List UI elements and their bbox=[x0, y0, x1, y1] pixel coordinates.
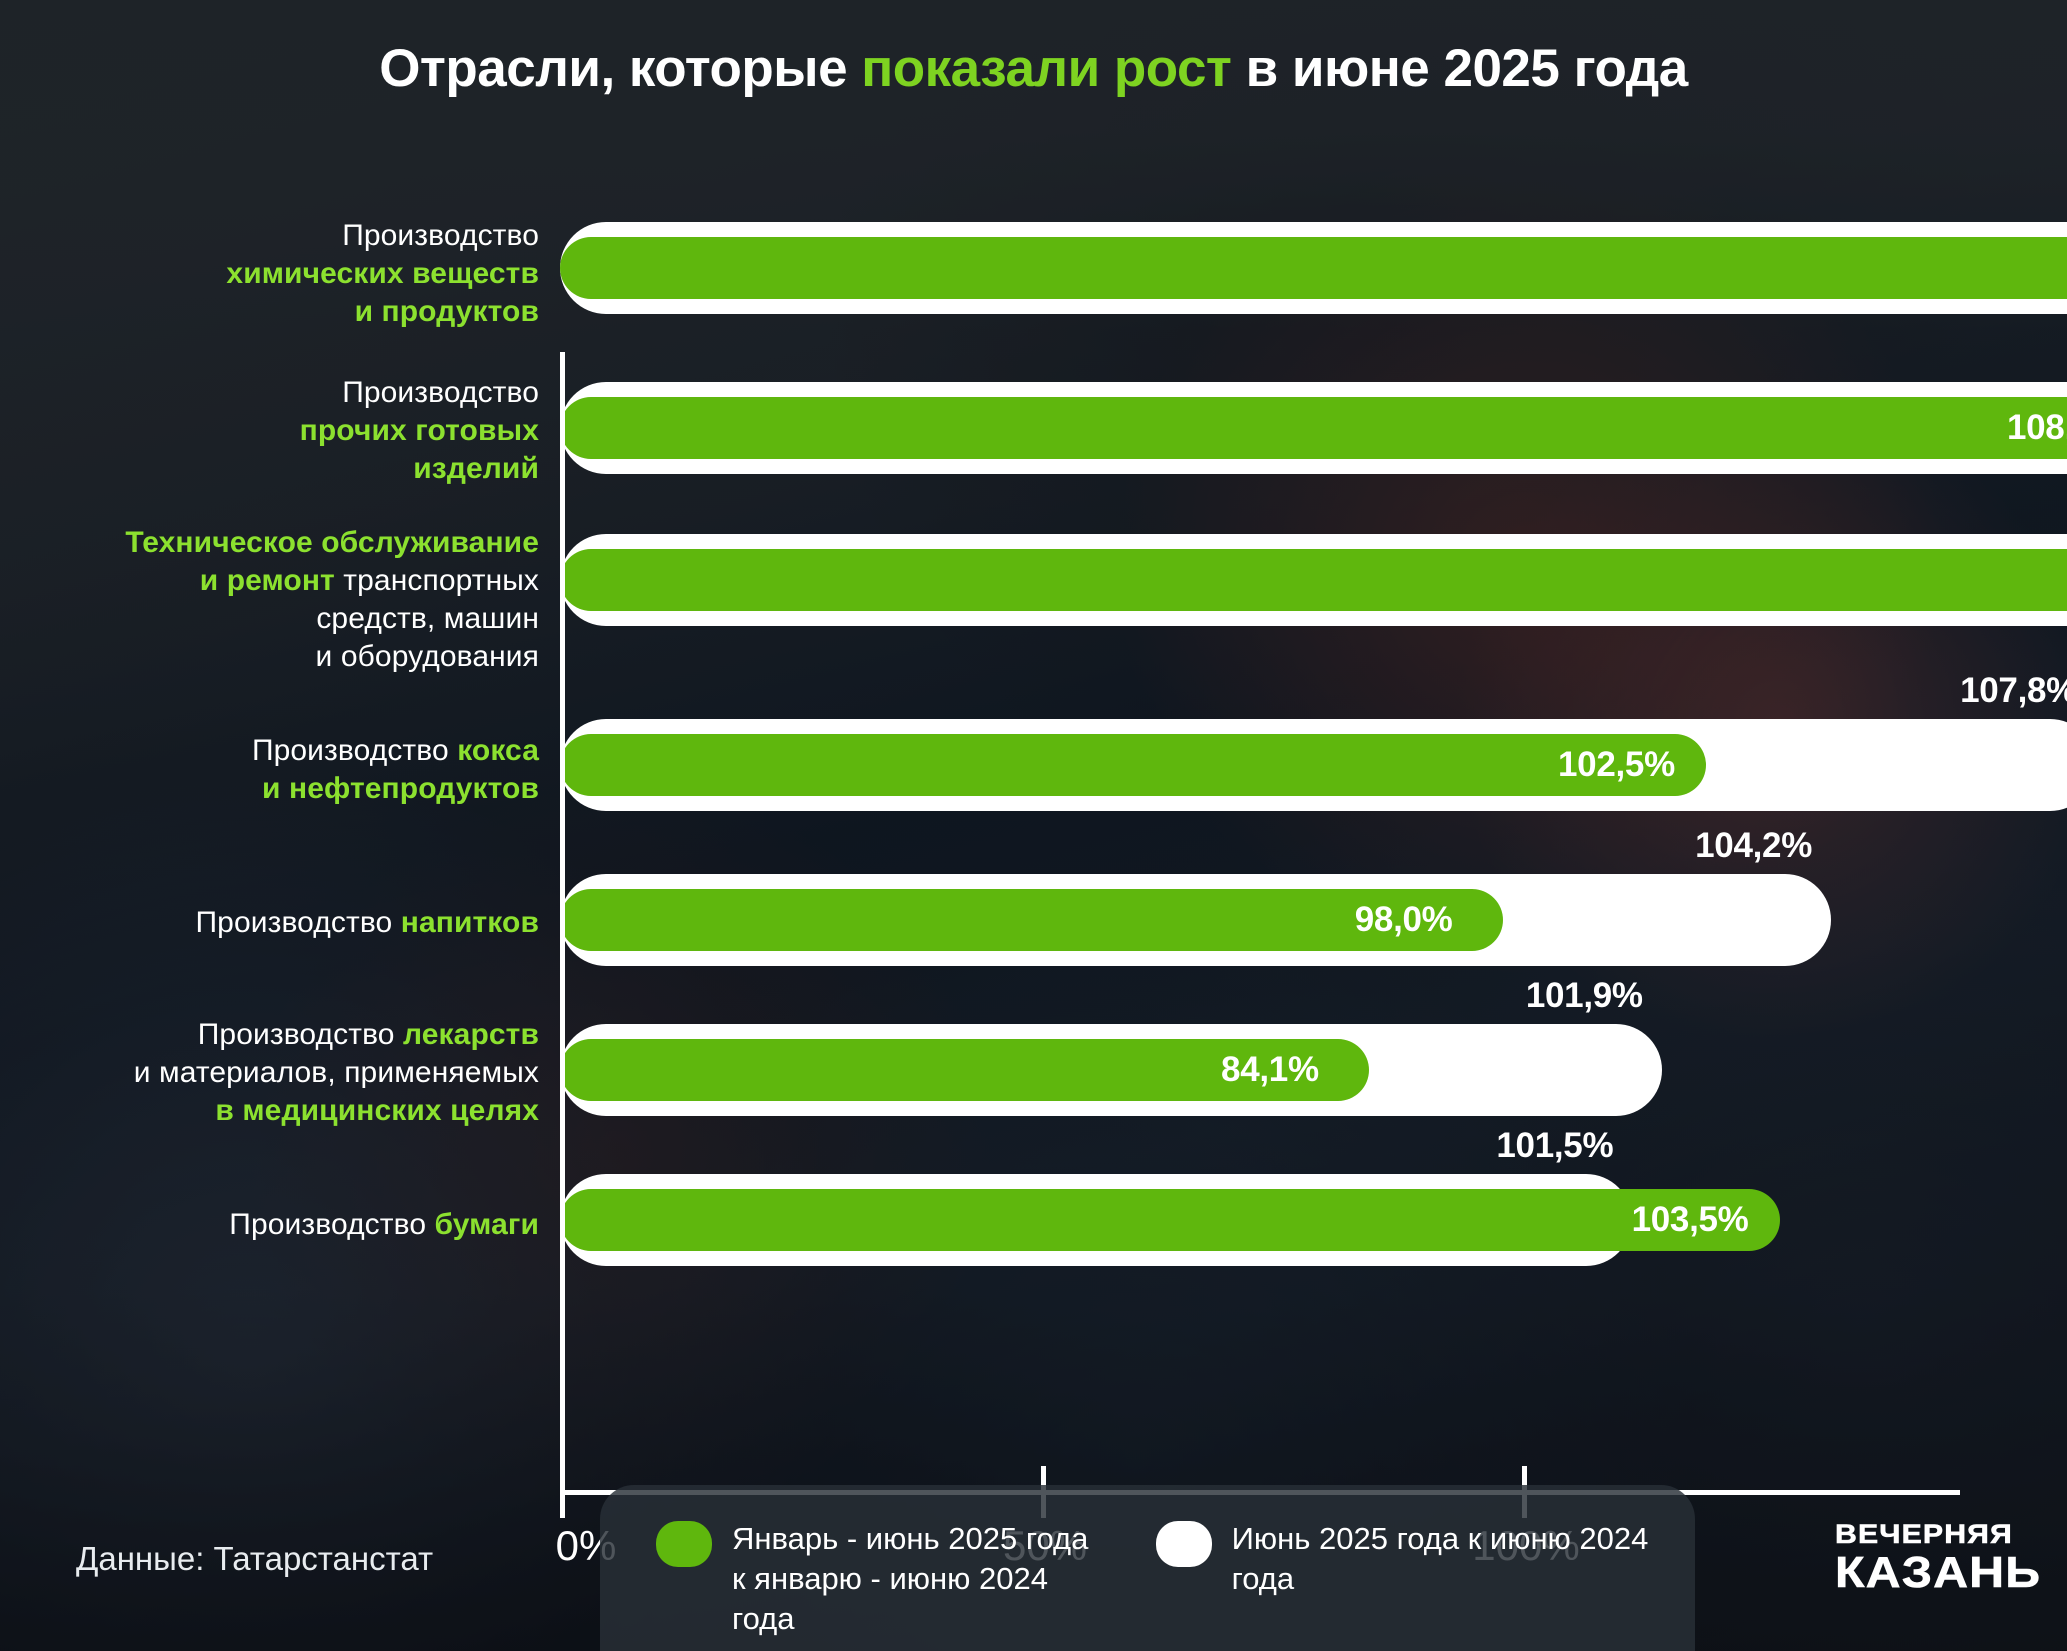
category-label: Производство бумаги bbox=[19, 1206, 539, 1244]
value-label-white: 104,2% bbox=[1695, 826, 1812, 866]
legend-swatch-green-icon bbox=[656, 1521, 712, 1567]
chart-row: Производство бумаги101,5%103,5% bbox=[0, 1130, 2067, 1280]
category-label: Производство лекарстви материалов, приме… bbox=[19, 1016, 539, 1130]
value-label-green: 108,6% bbox=[2007, 408, 2067, 448]
chart-row: Производствопрочих готовыхизделий115,0%1… bbox=[0, 338, 2067, 484]
logo-line-1: ВЕЧЕРНЯЯ bbox=[1835, 1521, 2013, 1548]
y-axis-line bbox=[560, 352, 565, 1492]
title-part-1: Отрасли, которые bbox=[379, 39, 861, 98]
category-label: Производство напитков bbox=[19, 904, 539, 942]
chart-row: Техническое обслуживаниеи ремонт транспо… bbox=[0, 490, 2067, 670]
legend-item-green: Январь - июнь 2025 года к январю - июню … bbox=[656, 1519, 1106, 1651]
title-part-2: в июне 2025 года bbox=[1231, 39, 1687, 98]
value-label-white: 101,5% bbox=[1496, 1126, 1613, 1166]
legend-label-green: Январь - июнь 2025 года к январю - июню … bbox=[732, 1519, 1106, 1639]
chart-row: Производствохимических веществи продукто… bbox=[0, 178, 2067, 330]
legend-label-white: Июнь 2025 года к июню 2024 года bbox=[1232, 1519, 1695, 1599]
publisher-logo: ВЕЧЕРНЯЯ КАЗАНЬ bbox=[1835, 1512, 2031, 1604]
logo-line-2: КАЗАНЬ bbox=[1835, 1551, 2041, 1595]
category-label: Техническое обслуживаниеи ремонт транспо… bbox=[19, 524, 539, 676]
category-label: Производство коксаи нефтепродуктов bbox=[19, 732, 539, 808]
bar-green bbox=[560, 237, 2067, 299]
bar-green bbox=[560, 549, 2067, 611]
chart-row: Производство напитков104,2%98,0% bbox=[0, 830, 2067, 976]
value-label-green: 103,5% bbox=[1632, 1200, 1749, 1240]
value-label-green: 98,0% bbox=[1355, 900, 1453, 940]
data-source-note: Данные: Татарстанстат bbox=[76, 1540, 433, 1578]
bar-chart: Производствохимических веществи продукто… bbox=[0, 170, 2067, 1350]
value-label-green: 84,1% bbox=[1221, 1050, 1319, 1090]
legend-swatch-white-icon bbox=[1156, 1521, 1212, 1567]
bar-green bbox=[560, 734, 1706, 796]
legend-item-white: Июнь 2025 года к июню 2024 года bbox=[1156, 1519, 1695, 1651]
bar-green bbox=[560, 1189, 1780, 1251]
title-highlight: показали рост bbox=[861, 39, 1231, 98]
category-label: Производствохимических веществи продукто… bbox=[19, 217, 539, 331]
value-label-white: 107,8% bbox=[1960, 671, 2067, 711]
value-label-green: 102,5% bbox=[1558, 745, 1675, 785]
bar-green bbox=[560, 397, 2067, 459]
chart-row: Производство лекарстви материалов, приме… bbox=[0, 980, 2067, 1126]
page-title: Отрасли, которые показали рост в июне 20… bbox=[0, 38, 2067, 99]
chart-legend: Январь - июнь 2025 года к январю - июню … bbox=[600, 1485, 1695, 1651]
chart-row: Производство коксаи нефтепродуктов107,8%… bbox=[0, 675, 2067, 825]
category-label: Производствопрочих готовыхизделий bbox=[19, 374, 539, 488]
x-axis-tick bbox=[560, 1466, 565, 1518]
value-label-white: 101,9% bbox=[1526, 976, 1643, 1016]
